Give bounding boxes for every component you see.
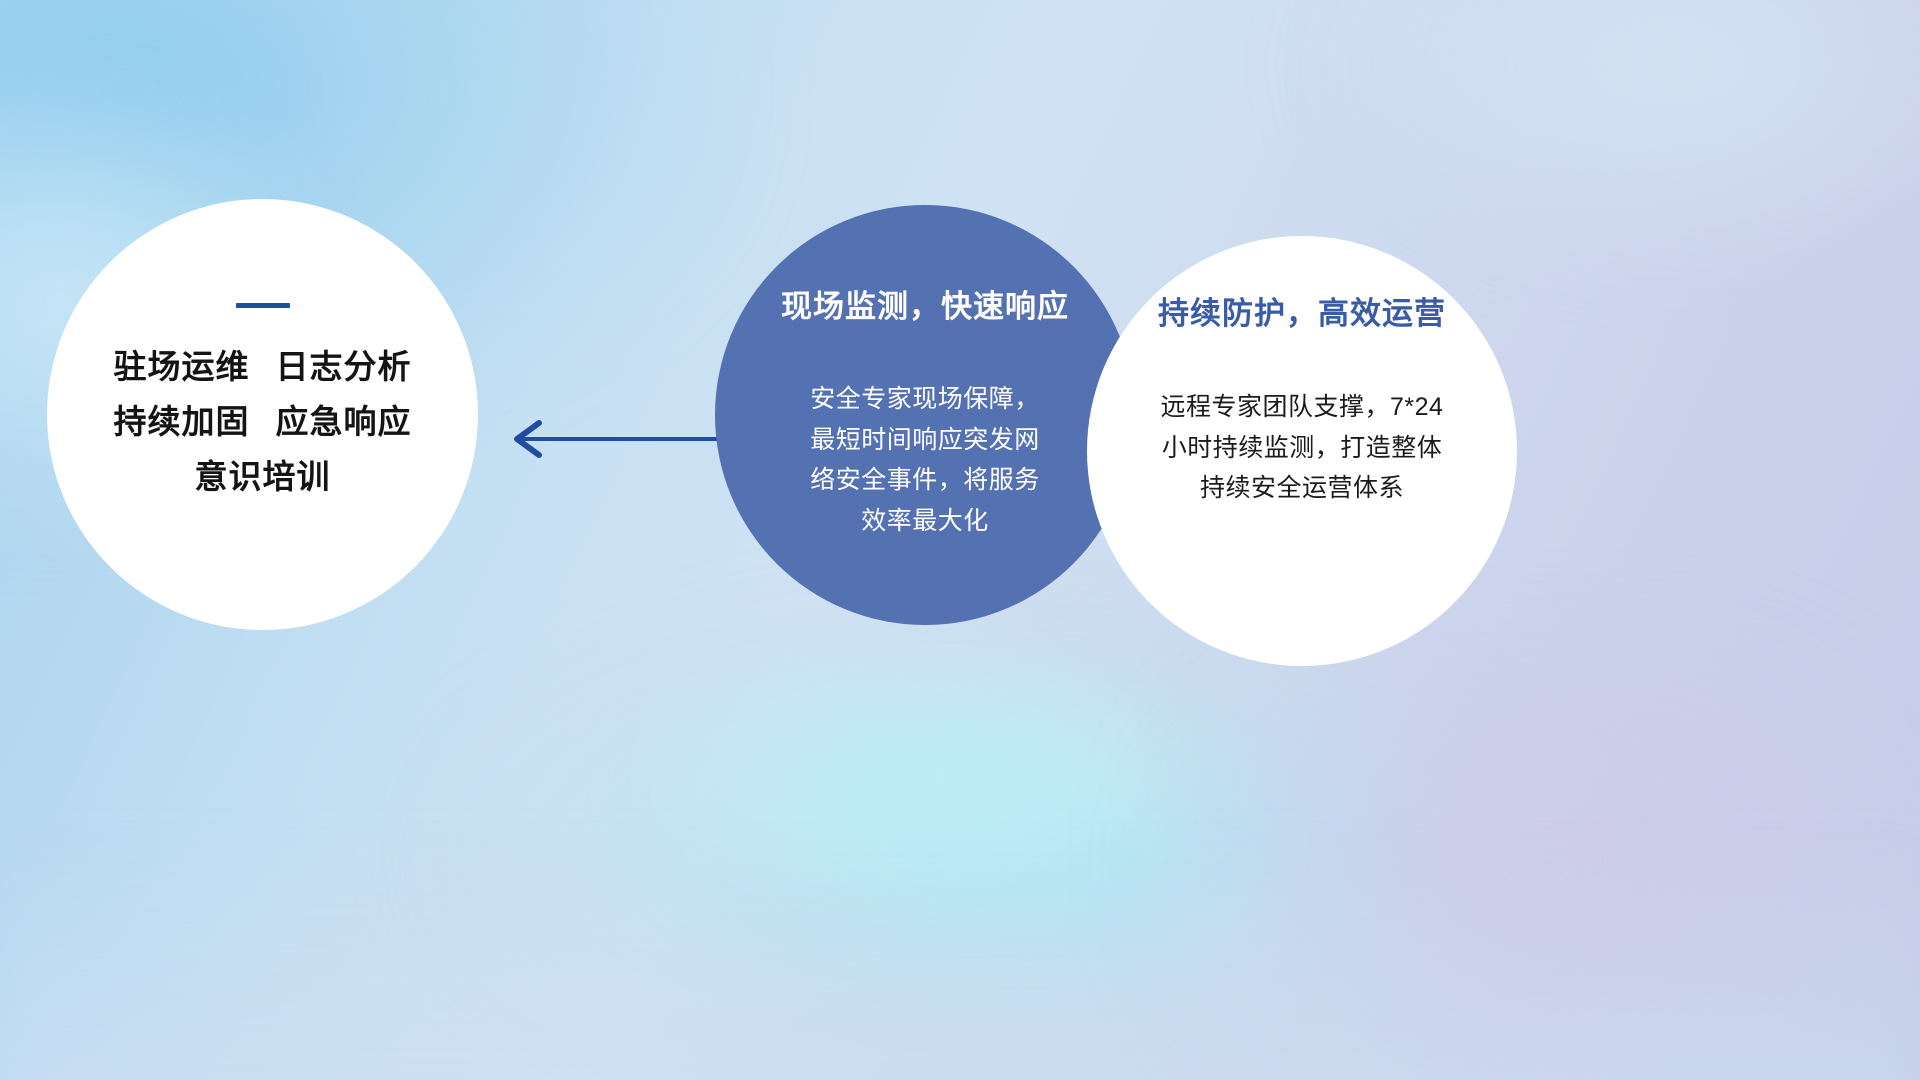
middle-body-line-4: 效率最大化 (775, 501, 1075, 542)
right-circle-body: 远程专家团队支撑，7*24 小时持续监测，打造整体 持续安全运营体系 (1130, 387, 1475, 509)
capability-line-1: 驻场运维日志分析 (114, 350, 412, 383)
left-capability-circle[interactable]: 驻场运维日志分析 持续加固应急响应 意识培训 (47, 199, 478, 630)
middle-body-line-2: 最短时间响应突发网 (775, 420, 1075, 461)
capability-item-4: 应急响应 (276, 403, 412, 440)
middle-body-line-3: 络安全事件，将服务 (775, 460, 1075, 501)
right-body-line-3: 持续安全运营体系 (1130, 468, 1475, 509)
capability-line-2: 持续加固应急响应 (114, 405, 412, 438)
middle-circle-title: 现场监测，快速响应 (781, 291, 1069, 322)
middle-circle-body: 安全专家现场保障， 最短时间响应突发网 络安全事件，将服务 效率最大化 (775, 379, 1075, 541)
right-circle-title: 持续防护，高效运营 (1158, 298, 1446, 329)
capability-item-3: 持续加固 (114, 403, 250, 440)
capability-list: 驻场运维日志分析 持续加固应急响应 意识培训 (47, 350, 478, 493)
arrow-left-icon (495, 416, 720, 462)
capability-line-3: 意识培训 (195, 460, 331, 493)
capability-item-5: 意识培训 (195, 458, 331, 495)
right-body-line-1: 远程专家团队支撑，7*24 (1130, 387, 1475, 428)
background-glow-top-right (1306, 0, 1920, 281)
right-service-circle[interactable]: 持续防护，高效运营 远程专家团队支撑，7*24 小时持续监测，打造整体 持续安全… (1087, 236, 1517, 666)
slide-canvas: 驻场运维日志分析 持续加固应急响应 意识培训 现场监测，快速响应 安全专家现场保… (0, 0, 1920, 1080)
middle-body-line-1: 安全专家现场保障， (775, 379, 1075, 420)
flow-arrow-left (495, 416, 720, 462)
accent-dash-icon (236, 303, 290, 308)
capability-item-1: 驻场运维 (114, 348, 250, 385)
right-body-line-2: 小时持续监测，打造整体 (1130, 428, 1475, 469)
capability-item-2: 日志分析 (276, 348, 412, 385)
background-glow-bottom (0, 842, 1920, 1080)
middle-service-circle[interactable]: 现场监测，快速响应 安全专家现场保障， 最短时间响应突发网 络安全事件，将服务 … (715, 205, 1135, 625)
